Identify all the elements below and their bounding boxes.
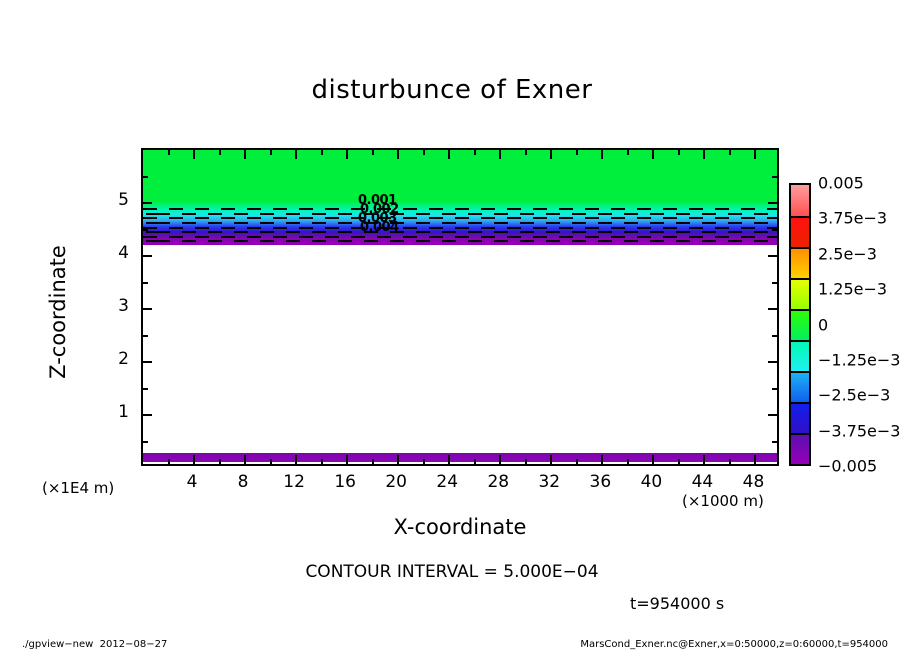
x-axis-unit-label: (×1000 m) <box>682 492 764 510</box>
x-tick-major <box>346 455 348 464</box>
y-tick-right-minor <box>772 176 777 178</box>
y-tick-right-minor <box>772 441 777 443</box>
footer-source-label: MarsCond_Exner.nc@Exner,x=0:50000,z=0:60… <box>580 639 888 650</box>
x-tick-top-minor <box>219 150 221 155</box>
y-tick-label: 4 <box>101 243 129 263</box>
x-tick-minor <box>423 459 425 464</box>
colorbar-divider <box>791 371 809 373</box>
y-tick-label: 5 <box>101 190 129 210</box>
x-tick-minor <box>219 459 221 464</box>
contour-line <box>143 240 777 242</box>
field-region-blank <box>143 245 777 450</box>
x-tick-top-major <box>703 150 705 159</box>
x-tick-top-minor <box>525 150 527 155</box>
y-tick-minor <box>143 282 148 284</box>
heatmap-canvas: 0.0010.0020.0030.004 <box>143 150 777 464</box>
y-tick-major <box>143 361 152 363</box>
colorbar-divider <box>791 278 809 280</box>
colorbar-tick-label: 3.75e−3 <box>818 209 887 228</box>
y-tick-label: 2 <box>101 349 129 369</box>
x-tick-major <box>754 455 756 464</box>
x-tick-top-major <box>244 150 246 159</box>
x-tick-top-major <box>601 150 603 159</box>
x-tick-major <box>448 455 450 464</box>
x-tick-minor <box>627 459 629 464</box>
x-tick-major <box>550 455 552 464</box>
x-tick-top-minor <box>168 150 170 155</box>
y-tick-right-minor <box>772 335 777 337</box>
colorbar-tick-label: −2.5e−3 <box>818 386 890 405</box>
footer-command-label: ./gpview−new 2012−08−27 <box>22 639 167 650</box>
y-tick-major <box>143 202 152 204</box>
x-tick-top-major <box>346 150 348 159</box>
x-tick-label: 48 <box>723 472 783 492</box>
x-tick-top-major <box>652 150 654 159</box>
colorbar <box>789 183 811 466</box>
y-tick-minor <box>143 229 148 231</box>
contour-value-label: 0.004 <box>360 223 399 233</box>
x-tick-major <box>397 455 399 464</box>
y-tick-right-major <box>768 255 777 257</box>
x-tick-top-minor <box>678 150 680 155</box>
page-title: disturbunce of Exner <box>0 75 904 105</box>
x-tick-minor <box>372 459 374 464</box>
y-tick-minor <box>143 335 148 337</box>
contour-line <box>143 217 777 219</box>
timestamp-annotation: t=954000 s <box>630 594 724 613</box>
y-tick-minor <box>143 176 148 178</box>
colorbar-tick-label: −3.75e−3 <box>818 421 900 440</box>
x-tick-top-minor <box>372 150 374 155</box>
x-tick-top-minor <box>423 150 425 155</box>
x-tick-minor <box>678 459 680 464</box>
x-tick-minor <box>474 459 476 464</box>
y-tick-right-major <box>768 202 777 204</box>
colorbar-divider <box>791 247 809 249</box>
x-tick-minor <box>321 459 323 464</box>
x-tick-top-major <box>448 150 450 159</box>
x-tick-minor <box>525 459 527 464</box>
field-region-transition-band <box>143 201 777 239</box>
x-tick-top-minor <box>576 150 578 155</box>
x-tick-minor <box>270 459 272 464</box>
x-tick-top-major <box>397 150 399 159</box>
colorbar-divider <box>791 216 809 218</box>
y-tick-right-minor <box>772 388 777 390</box>
x-tick-top-major <box>193 150 195 159</box>
contour-interval-annotation: CONTOUR INTERVAL = 5.000E−04 <box>0 562 904 582</box>
field-region-bottom-purple <box>143 453 777 462</box>
x-tick-major <box>703 455 705 464</box>
y-tick-minor <box>143 441 148 443</box>
contour-label-cluster: 0.0010.0020.0030.004 <box>358 196 438 242</box>
x-tick-minor <box>168 459 170 464</box>
y-tick-right-major <box>768 414 777 416</box>
colorbar-tick-label: 1.25e−3 <box>818 280 887 299</box>
plot-frame: 0.0010.0020.0030.004 <box>141 148 779 466</box>
colorbar-tick-label: 0.005 <box>818 174 864 193</box>
x-tick-top-minor <box>321 150 323 155</box>
x-tick-top-major <box>754 150 756 159</box>
x-tick-major <box>193 455 195 464</box>
colorbar-tick-label: −1.25e−3 <box>818 350 900 369</box>
contour-line <box>143 222 777 224</box>
y-tick-right-major <box>768 361 777 363</box>
y-tick-label: 1 <box>101 402 129 422</box>
x-tick-top-minor <box>270 150 272 155</box>
y-tick-major <box>143 255 152 257</box>
y-axis-title: Z-coordinate <box>46 202 70 422</box>
x-tick-major <box>652 455 654 464</box>
x-tick-minor <box>576 459 578 464</box>
x-tick-major <box>499 455 501 464</box>
field-region-uniform-green <box>143 150 777 201</box>
x-tick-top-minor <box>627 150 629 155</box>
colorbar-divider <box>791 402 809 404</box>
contour-line <box>143 227 777 229</box>
x-tick-top-major <box>295 150 297 159</box>
y-tick-right-minor <box>772 282 777 284</box>
contour-line <box>143 213 777 215</box>
colorbar-tick-label: −0.005 <box>818 457 877 476</box>
colorbar-divider <box>791 309 809 311</box>
contour-line <box>143 208 777 210</box>
colorbar-divider <box>791 340 809 342</box>
y-tick-label: 3 <box>101 296 129 316</box>
colorbar-tick-label: 2.5e−3 <box>818 244 877 263</box>
contour-line <box>143 231 777 233</box>
contour-line <box>143 236 777 238</box>
y-axis-unit-label: (×1E4 m) <box>42 479 114 497</box>
x-tick-top-major <box>550 150 552 159</box>
x-tick-top-major <box>499 150 501 159</box>
colorbar-divider <box>791 433 809 435</box>
x-axis-title: X-coordinate <box>141 515 779 539</box>
x-tick-top-minor <box>729 150 731 155</box>
x-tick-major <box>295 455 297 464</box>
y-tick-right-major <box>768 308 777 310</box>
x-tick-top-minor <box>474 150 476 155</box>
x-tick-major <box>601 455 603 464</box>
colorbar-tick-label: 0 <box>818 315 828 334</box>
x-tick-minor <box>729 459 731 464</box>
x-tick-major <box>244 455 246 464</box>
y-tick-minor <box>143 388 148 390</box>
y-tick-major <box>143 414 152 416</box>
y-tick-major <box>143 308 152 310</box>
y-tick-right-minor <box>772 229 777 231</box>
